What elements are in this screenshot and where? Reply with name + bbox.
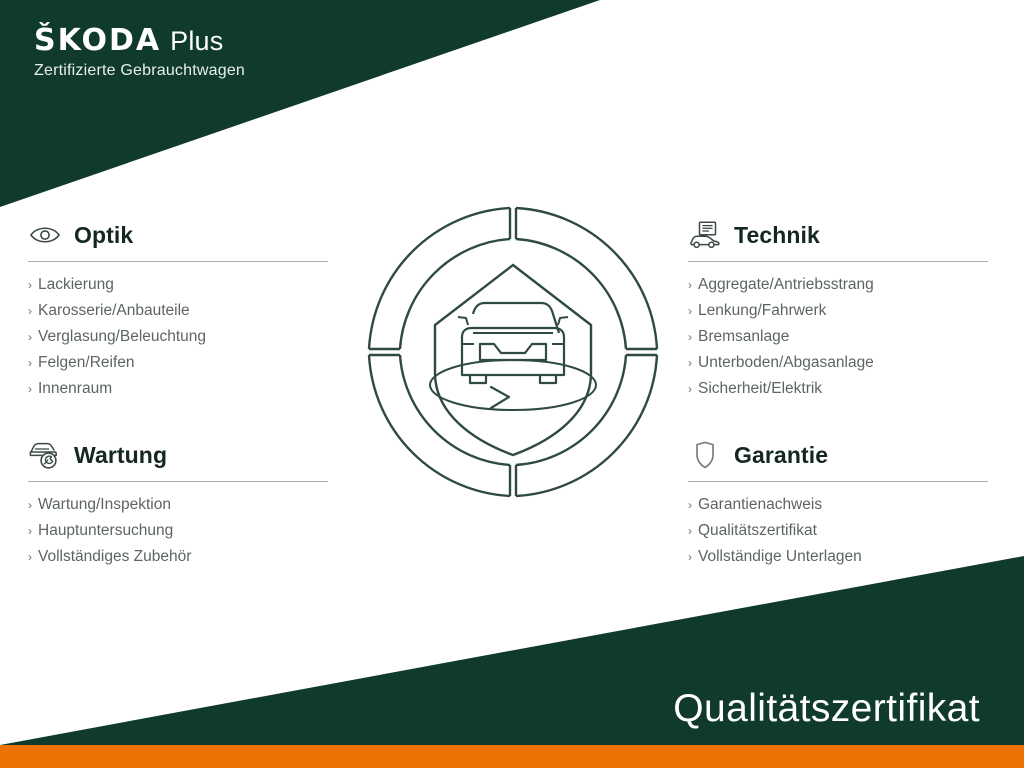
outer-arc-bottom-left: [369, 355, 510, 496]
section-technik: Technik ›Aggregate/Antriebsstrang ›Lenku…: [688, 218, 998, 402]
list-item-label: Sicherheit/Elektrik: [698, 376, 822, 401]
list-item-label: Felgen/Reifen: [38, 350, 135, 375]
chevron-icon: ›: [28, 519, 32, 544]
list-item-label: Aggregate/Antriebsstrang: [698, 272, 874, 297]
certified-vehicle-emblem: [358, 197, 668, 517]
certificate-poster: ŠKODA Plus Zertifizierte Gebrauchtwagen …: [0, 0, 1024, 768]
section-garantie-list: ›Garantienachweis ›Qualitätszertifikat ›…: [688, 492, 998, 570]
list-item: ›Qualitätszertifikat: [688, 518, 998, 544]
car-mirror-left: [458, 317, 468, 325]
list-item: ›Lackierung: [28, 272, 338, 298]
list-item: ›Lenkung/Fahrwerk: [688, 298, 998, 324]
chevron-icon: ›: [688, 299, 692, 324]
car-wrench-icon: [28, 440, 62, 470]
chevron-icon: ›: [28, 273, 32, 298]
list-item: ›Karosserie/Anbauteile: [28, 298, 338, 324]
chevron-icon: ›: [688, 493, 692, 518]
list-item: ›Wartung/Inspektion: [28, 492, 338, 518]
brand-tagline: Zertifizierte Gebrauchtwagen: [34, 62, 245, 80]
section-technik-header: Technik: [688, 218, 998, 252]
section-optik: Optik ›Lackierung ›Karosserie/Anbauteile…: [28, 218, 338, 402]
list-item: ›Felgen/Reifen: [28, 350, 338, 376]
list-item-label: Unterboden/Abgasanlage: [698, 350, 874, 375]
list-item: ›Verglasung/Beleuchtung: [28, 324, 338, 350]
list-item: ›Innenraum: [28, 376, 338, 402]
list-item: ›Bremsanlage: [688, 324, 998, 350]
section-garantie-title: Garantie: [734, 444, 828, 467]
car-wheel-left: [470, 375, 486, 383]
list-item-label: Vollständiges Zubehör: [38, 544, 191, 569]
chevron-icon: ›: [28, 493, 32, 518]
list-item: ›Garantienachweis: [688, 492, 998, 518]
section-garantie: Garantie ›Garantienachweis ›Qualitätszer…: [688, 438, 998, 570]
car-grille: [480, 344, 546, 360]
orbit-ellipse: [430, 360, 596, 410]
chevron-icon: ›: [688, 273, 692, 298]
chevron-icon: ›: [688, 519, 692, 544]
list-item-label: Garantienachweis: [698, 492, 822, 517]
section-technik-list: ›Aggregate/Antriebsstrang ›Lenkung/Fahrw…: [688, 272, 998, 402]
page-title: Qualitätszertifikat: [673, 689, 980, 728]
skoda-wordmark: ŠKODA: [34, 26, 161, 56]
brand-logo: ŠKODA Plus Zertifizierte Gebrauchtwagen: [34, 26, 245, 80]
eye-icon: [28, 220, 62, 250]
section-optik-divider: [28, 261, 328, 262]
shield-icon: [688, 440, 722, 470]
section-wartung-list: ›Wartung/Inspektion ›Hauptuntersuchung ›…: [28, 492, 338, 570]
section-garantie-divider: [688, 481, 988, 482]
chevron-icon: ›: [688, 351, 692, 376]
section-optik-title: Optik: [74, 224, 133, 247]
list-item: ›Sicherheit/Elektrik: [688, 376, 998, 402]
chevron-icon: ›: [28, 545, 32, 570]
plus-wordmark: Plus: [170, 28, 223, 55]
orbit-arrow-icon: [491, 387, 509, 408]
list-item: ›Vollständiges Zubehör: [28, 544, 338, 570]
chevron-icon: ›: [28, 377, 32, 402]
car-mirror-right: [558, 317, 568, 325]
section-wartung-title: Wartung: [74, 444, 167, 467]
car-body: [462, 328, 564, 375]
car-document-icon: [688, 220, 722, 250]
section-technik-title: Technik: [734, 224, 820, 247]
list-item-label: Hauptuntersuchung: [38, 518, 173, 543]
chevron-icon: ›: [688, 377, 692, 402]
section-technik-divider: [688, 261, 988, 262]
car-wheel-right: [540, 375, 556, 383]
list-item: ›Hauptuntersuchung: [28, 518, 338, 544]
list-item-label: Verglasung/Beleuchtung: [38, 324, 206, 349]
section-wartung: Wartung ›Wartung/Inspektion ›Hauptunters…: [28, 438, 338, 570]
list-item-label: Vollständige Unterlagen: [698, 544, 862, 569]
list-item-label: Karosserie/Anbauteile: [38, 298, 190, 323]
chevron-icon: ›: [688, 325, 692, 350]
chevron-icon: ›: [28, 299, 32, 324]
list-item: ›Vollständige Unterlagen: [688, 544, 998, 570]
section-wartung-header: Wartung: [28, 438, 338, 472]
brand-logo-row: ŠKODA Plus: [34, 26, 245, 56]
list-item-label: Wartung/Inspektion: [38, 492, 171, 517]
list-item-label: Bremsanlage: [698, 324, 789, 349]
section-optik-header: Optik: [28, 218, 338, 252]
list-item-label: Qualitätszertifikat: [698, 518, 817, 543]
list-item: ›Aggregate/Antriebsstrang: [688, 272, 998, 298]
chevron-icon: ›: [28, 325, 32, 350]
list-item-label: Lackierung: [38, 272, 114, 297]
orange-accent-bar: [0, 745, 1024, 768]
chevron-icon: ›: [28, 351, 32, 376]
section-garantie-header: Garantie: [688, 438, 998, 472]
section-optik-list: ›Lackierung ›Karosserie/Anbauteile ›Verg…: [28, 272, 338, 402]
list-item-label: Lenkung/Fahrwerk: [698, 298, 826, 323]
section-wartung-divider: [28, 481, 328, 482]
list-item-label: Innenraum: [38, 376, 112, 401]
chevron-icon: ›: [688, 545, 692, 570]
outer-arc-bottom-right: [516, 355, 657, 496]
list-item: ›Unterboden/Abgasanlage: [688, 350, 998, 376]
